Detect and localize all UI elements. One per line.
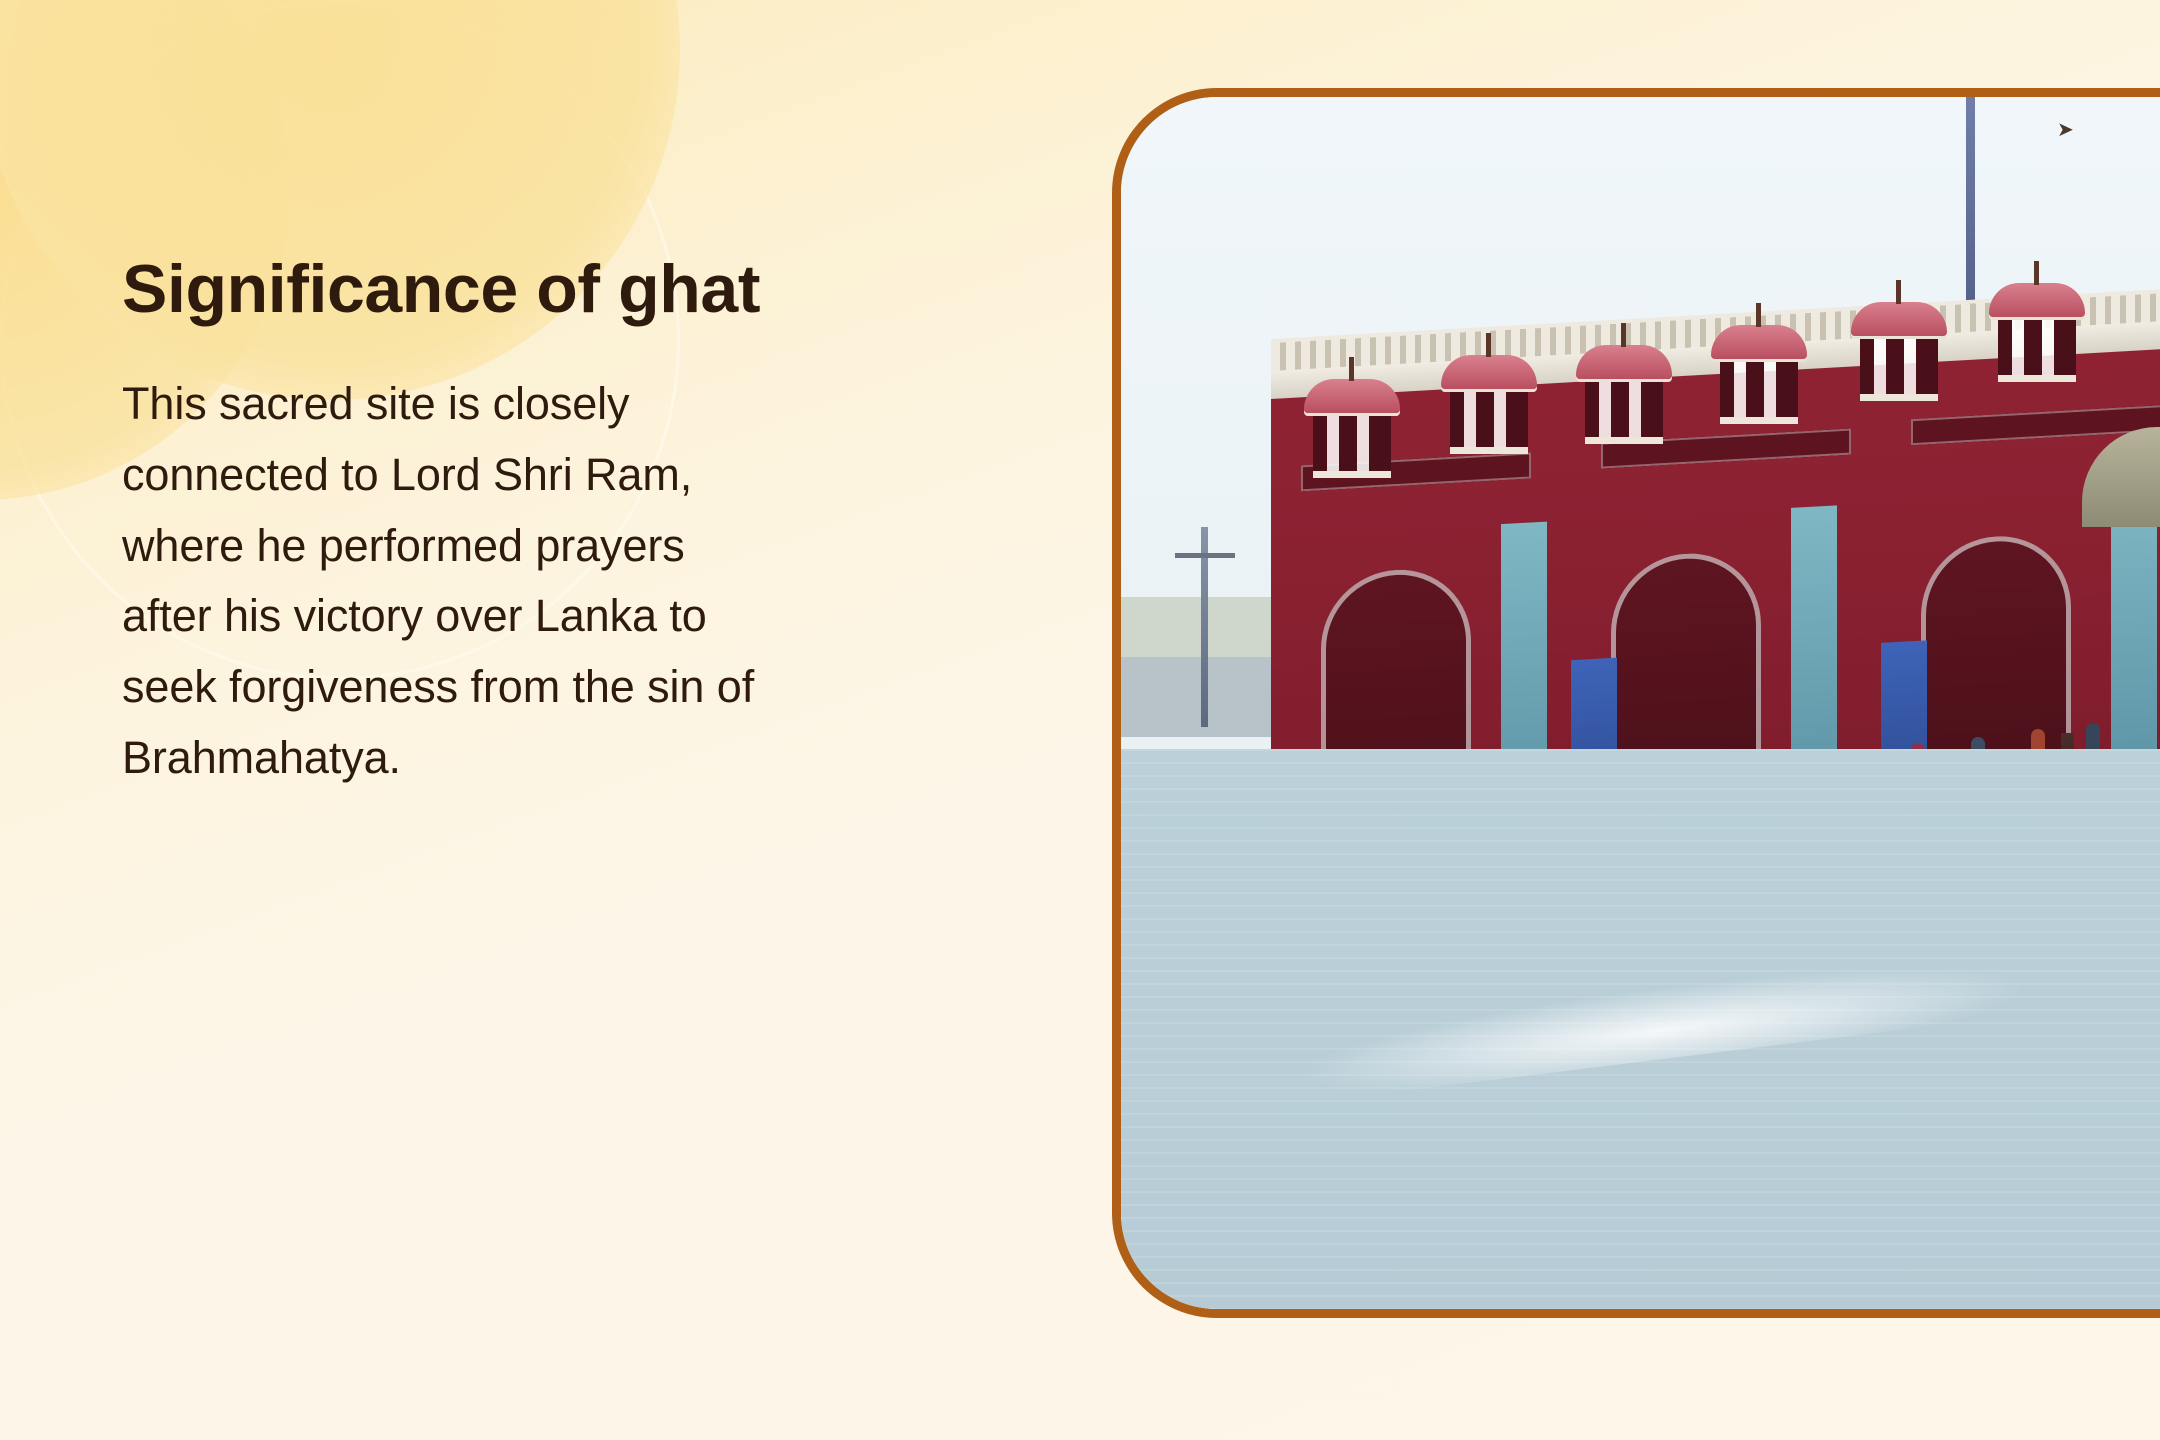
photo-frame: ➤ bbox=[1112, 88, 2160, 1318]
chhatri-kiosk bbox=[1851, 302, 1947, 401]
chhatri-kiosk bbox=[1304, 379, 1400, 478]
body-paragraph: This sacred site is closely connected to… bbox=[122, 369, 762, 793]
bird-icon: ➤ bbox=[2057, 125, 2079, 136]
temple-pillar bbox=[2111, 487, 2157, 780]
chhatri-kiosk bbox=[1576, 345, 1672, 444]
utility-pole bbox=[1201, 527, 1208, 727]
chhatri-kiosk bbox=[1711, 325, 1807, 424]
chhatri-kiosk bbox=[1989, 283, 2085, 382]
ghat-photograph: ➤ bbox=[1121, 97, 2160, 1309]
chhatri-kiosk bbox=[1441, 355, 1537, 454]
text-column: Significance of ghat This sacred site is… bbox=[122, 245, 762, 793]
photo-clip: ➤ bbox=[1121, 97, 2160, 1309]
page-title: Significance of ghat bbox=[122, 245, 762, 333]
slide-canvas: Significance of ghat This sacred site is… bbox=[0, 0, 2160, 1440]
